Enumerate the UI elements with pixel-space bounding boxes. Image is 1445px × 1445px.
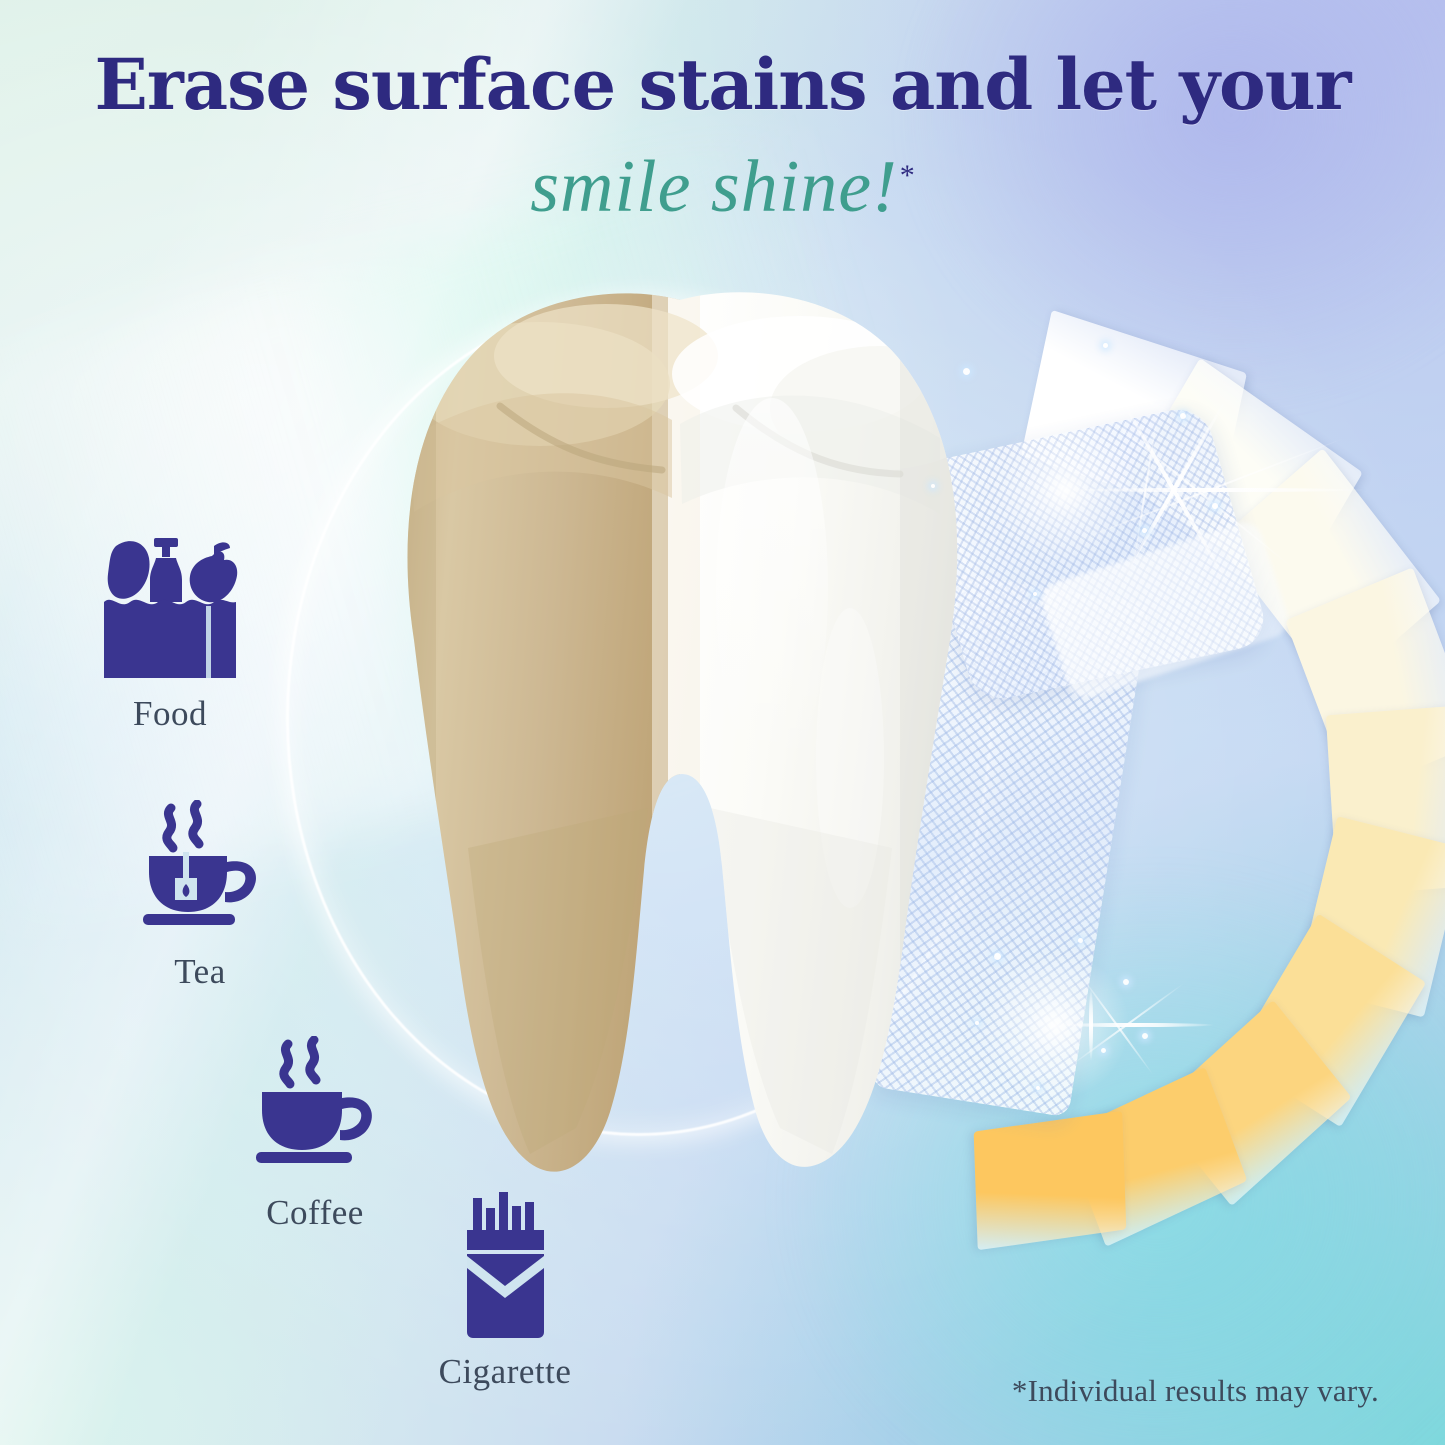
- stain-source-cigarette: Cigarette: [385, 1190, 625, 1392]
- headline-secondary-text: smile shine!: [530, 146, 898, 228]
- stain-source-label: Tea: [95, 952, 305, 992]
- headline-secondary: smile shine!*: [0, 150, 1445, 224]
- grocery-bag-icon: [100, 532, 240, 682]
- stain-source-tea: Tea: [95, 800, 305, 992]
- tooth-illustration: [380, 288, 1000, 1193]
- stain-source-label: Cigarette: [385, 1352, 625, 1392]
- stain-source-label: Food: [55, 694, 285, 734]
- disclaimer-text: *Individual results may vary.: [1012, 1373, 1379, 1409]
- stain-source-food: Food: [55, 532, 285, 734]
- teacup-icon: [135, 800, 265, 940]
- coffee-cup-icon: [248, 1036, 383, 1181]
- asterisk-marker: *: [900, 159, 915, 192]
- cigarette-pack-icon: [443, 1190, 568, 1340]
- promo-banner: Erase surface stains and let your smile …: [0, 0, 1445, 1445]
- headline-primary: Erase surface stains and let your: [0, 48, 1445, 122]
